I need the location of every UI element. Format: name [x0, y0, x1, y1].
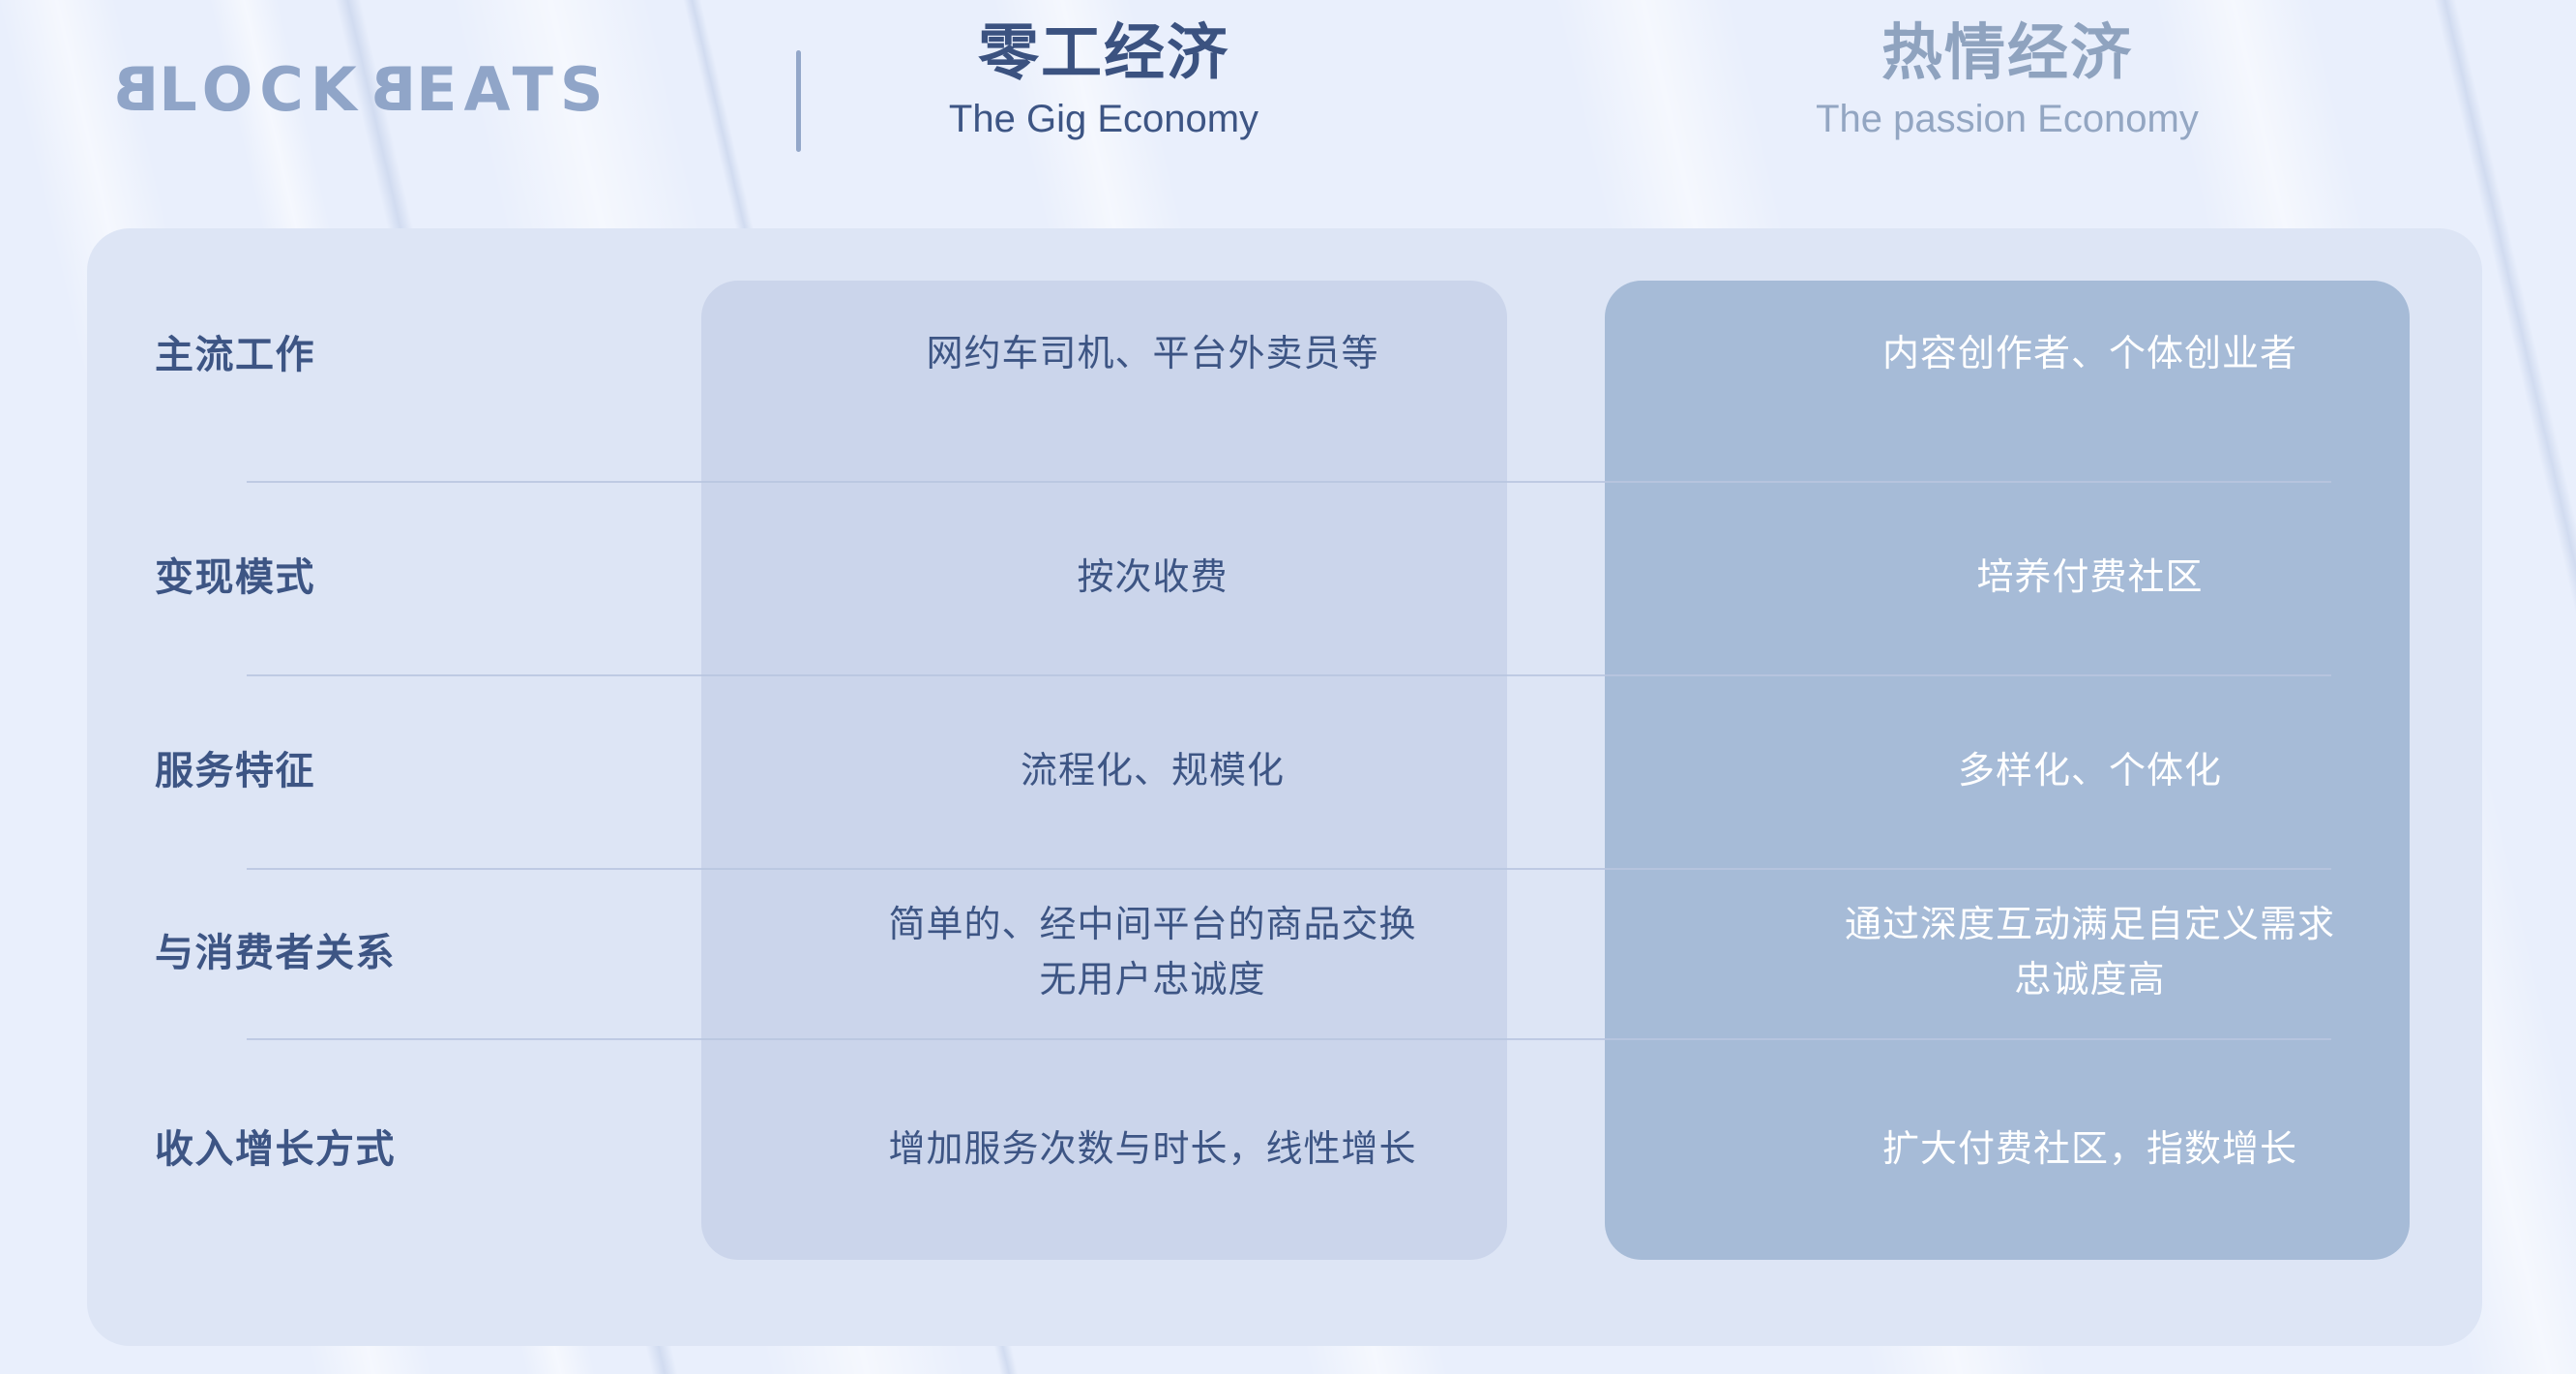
cell-text-passion: 培养付费社区 — [1976, 551, 2203, 606]
row-cell-passion: 多样化、个体化 — [1604, 674, 2576, 868]
row-cell-passion: 内容创作者、个体创业者 — [1604, 228, 2576, 481]
column-title-en-gig: The Gig Economy — [701, 95, 1506, 143]
table-row: 收入增长方式 增加服务次数与时长，线性增长 扩大付费社区，指数增长 — [0, 1038, 2576, 1261]
row-label: 与消费者关系 — [155, 927, 396, 979]
column-header-gig: 零工经济 The Gig Economy — [701, 17, 1506, 143]
header: BLOCKBEATS 零工经济 The Gig Economy 热情经济 The… — [0, 0, 2576, 203]
logo-letters-lock: LOCK — [159, 54, 364, 125]
row-cell-passion: 通过深度互动满足自定义需求 忠诚度高 — [1604, 868, 2576, 1038]
row-label-cell: 收入增长方式 — [0, 1038, 701, 1261]
row-label-cell: 主流工作 — [0, 228, 701, 481]
comparison-table: 主流工作 网约车司机、平台外卖员等 内容创作者、个体创业者 变现模式 按次收费 … — [0, 228, 2576, 1346]
row-cell-gig: 网约车司机、平台外卖员等 — [701, 228, 1604, 481]
row-cell-passion: 培养付费社区 — [1604, 481, 2576, 674]
row-cell-passion: 扩大付费社区，指数增长 — [1604, 1038, 2576, 1261]
cell-text-gig: 增加服务次数与时长，线性增长 — [888, 1122, 1416, 1178]
row-label-cell: 变现模式 — [0, 481, 701, 674]
logo-letters-eats: EATS — [416, 54, 609, 125]
row-label: 变现模式 — [155, 552, 315, 604]
row-cell-gig: 简单的、经中间平台的商品交换 无用户忠诚度 — [701, 868, 1604, 1038]
row-label: 服务特征 — [155, 745, 315, 797]
column-title-cn-gig: 零工经济 — [701, 17, 1506, 89]
row-cell-gig: 增加服务次数与时长，线性增长 — [701, 1038, 1604, 1261]
cell-text-passion: 通过深度互动满足自定义需求 忠诚度高 — [1845, 898, 2335, 1008]
row-label: 收入增长方式 — [155, 1123, 396, 1176]
column-title-cn-passion: 热情经济 — [1606, 17, 2409, 89]
cell-text-passion: 扩大付费社区，指数增长 — [1882, 1122, 2297, 1178]
table-row: 服务特征 流程化、规模化 多样化、个体化 — [0, 674, 2576, 868]
cell-text-gig: 网约车司机、平台外卖员等 — [926, 327, 1378, 382]
cell-text-gig: 流程化、规模化 — [1021, 744, 1285, 799]
row-cell-gig: 按次收费 — [701, 481, 1604, 674]
cell-text-gig: 按次收费 — [1077, 551, 1228, 606]
row-label: 主流工作 — [155, 329, 315, 381]
row-label-cell: 服务特征 — [0, 674, 701, 868]
column-title-en-passion: The passion Economy — [1606, 95, 2409, 143]
logo-letter-b1: B — [106, 60, 159, 120]
cell-text-passion: 多样化、个体化 — [1958, 744, 2222, 799]
logo-letter-b2: B — [364, 60, 416, 120]
cell-text-gig: 简单的、经中间平台的商品交换 无用户忠诚度 — [888, 898, 1416, 1008]
cell-text-passion: 内容创作者、个体创业者 — [1882, 327, 2297, 382]
blockbeats-logo: BLOCKBEATS — [106, 60, 610, 120]
table-row: 变现模式 按次收费 培养付费社区 — [0, 481, 2576, 674]
row-label-cell: 与消费者关系 — [0, 868, 701, 1038]
column-header-passion: 热情经济 The passion Economy — [1606, 17, 2409, 143]
table-row: 与消费者关系 简单的、经中间平台的商品交换 无用户忠诚度 通过深度互动满足自定义… — [0, 868, 2576, 1038]
table-row: 主流工作 网约车司机、平台外卖员等 内容创作者、个体创业者 — [0, 228, 2576, 481]
row-cell-gig: 流程化、规模化 — [701, 674, 1604, 868]
